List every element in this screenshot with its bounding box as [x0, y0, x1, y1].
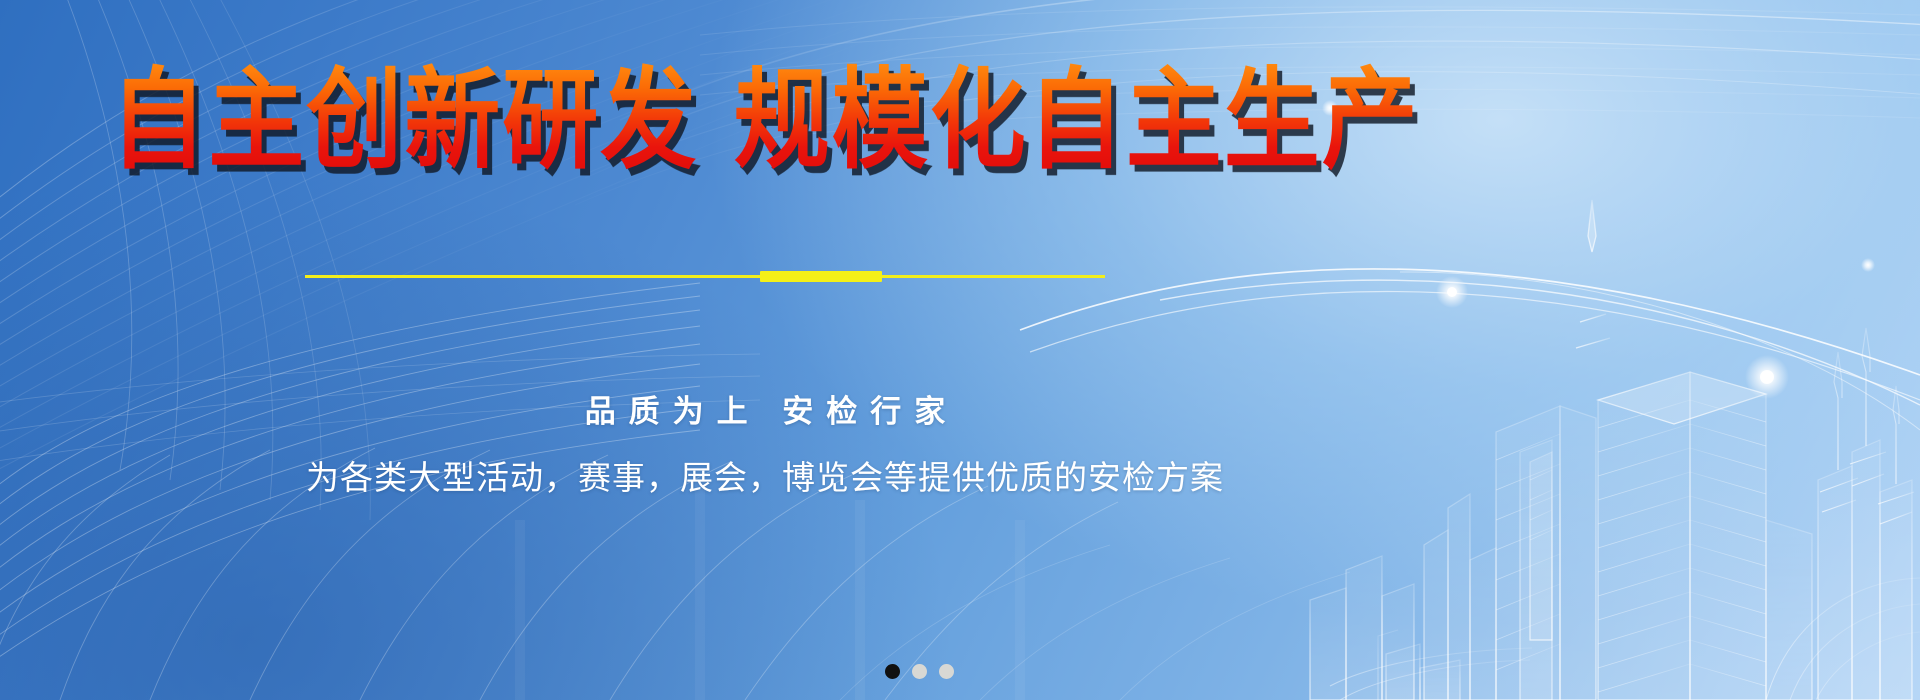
subtitle-secondary: 为各类大型活动，赛事，展会，博览会等提供优质的安检方案: [0, 451, 1530, 499]
carousel-dot-3[interactable]: [939, 664, 954, 679]
subtitle-primary: 品质为上 安检行家: [0, 386, 1530, 431]
carousel-dot-1[interactable]: [885, 664, 900, 679]
yellow-divider-accent: [760, 271, 882, 282]
page-title: 自主创新研发 规模化自主生产: [110, 62, 1419, 180]
hero-banner: 自主创新研发 规模化自主生产 品质为上 安检行家 为各类大型活动，赛事，展会，博…: [0, 0, 1920, 700]
carousel-dot-2[interactable]: [912, 664, 927, 679]
carousel-pagination[interactable]: [0, 664, 1838, 679]
banner-title-container: 自主创新研发 规模化自主生产: [0, 62, 1530, 166]
yellow-divider-rule: [305, 275, 1105, 278]
